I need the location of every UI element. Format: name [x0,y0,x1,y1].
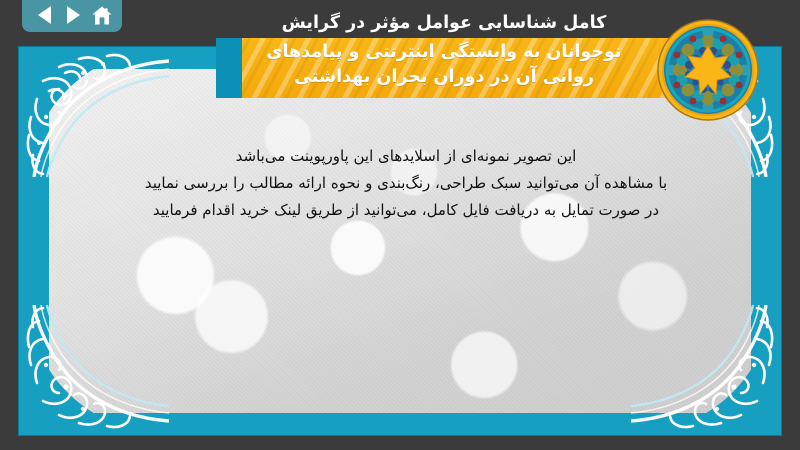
home-icon [91,5,113,26]
slide-canvas [49,69,751,413]
slide-viewer: این تصویر نمونه‌ای از اسلایدهای این پاور… [0,0,800,450]
slide-title-line-1: کامل شناسایی عوامل مؤثر در گرایش [238,11,662,36]
triangle-right-icon [67,6,80,24]
slide-title: نوجوانان به وابستگی اینترنتی و پیامدهای … [238,40,662,90]
body-line: این تصویر نمونه‌ای از اسلایدهای این پاور… [79,143,733,170]
persian-medallion-icon [656,18,760,122]
triangle-left-icon [38,6,51,24]
viewer-nav-bar [22,0,122,32]
home-button[interactable] [90,3,114,27]
body-line: با مشاهده آن می‌توانید سبک طراحی، رنگ‌بن… [79,170,733,197]
slide-title-block: کامل شناسایی عوامل مؤثر در گرایش نوجوانا… [238,38,748,98]
slide-body-text: این تصویر نمونه‌ای از اسلایدهای این پاور… [79,143,733,224]
slide-title-line-3: روانی آن در دوران بحران بهداشتی [238,65,650,90]
previous-slide-button[interactable] [32,3,56,27]
next-slide-button[interactable] [61,3,85,27]
slide-title-line-2: نوجوانان به وابستگی اینترنتی و پیامدهای [238,40,650,65]
body-line: در صورت تمایل به دریافت فایل کامل، می‌تو… [79,197,733,224]
